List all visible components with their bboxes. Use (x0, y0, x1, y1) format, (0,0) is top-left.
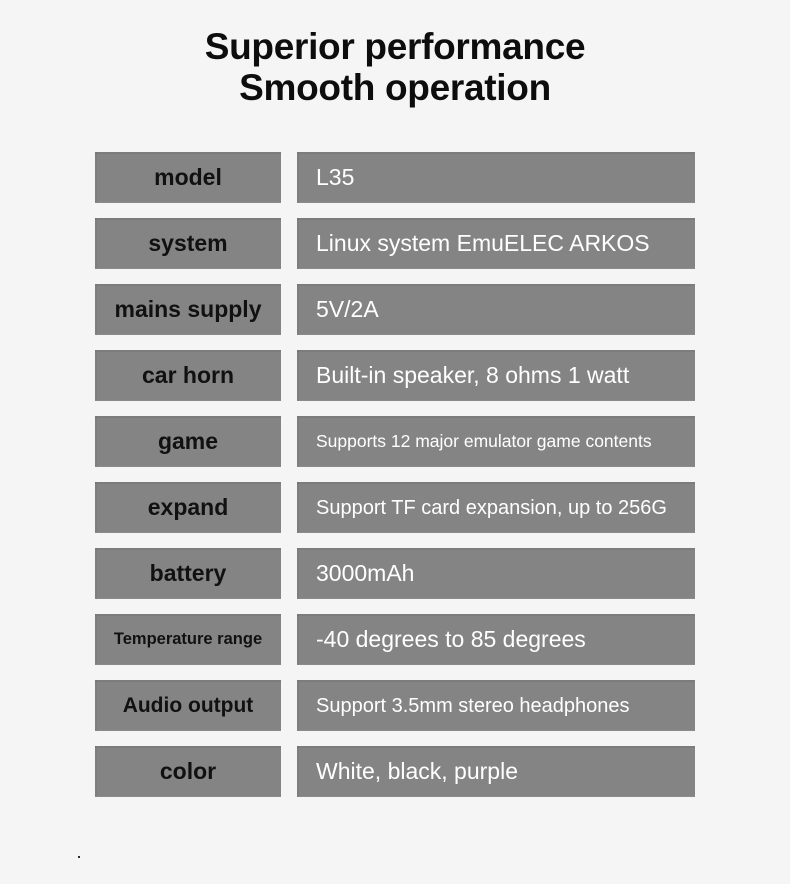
spec-value-cell: 3000mAh (297, 548, 695, 599)
spec-row: modelL35 (95, 152, 695, 203)
page-headline: Superior performance Smooth operation (0, 26, 790, 109)
spec-label-text: expand (148, 496, 229, 519)
spec-row: car hornBuilt-in speaker, 8 ohms 1 watt (95, 350, 695, 401)
spec-label-text: car horn (142, 364, 234, 387)
spec-value-text: 5V/2A (316, 298, 379, 321)
spec-value-cell: Support TF card expansion, up to 256G (297, 482, 695, 533)
spec-value-text: Linux system EmuELEC ARKOS (316, 232, 650, 255)
spec-value-cell: White, black, purple (297, 746, 695, 797)
spec-value-text: -40 degrees to 85 degrees (316, 628, 586, 651)
spec-label-cell: game (95, 416, 281, 467)
spec-row: expandSupport TF card expansion, up to 2… (95, 482, 695, 533)
spec-label-cell: expand (95, 482, 281, 533)
spec-row: Temperature range-40 degrees to 85 degre… (95, 614, 695, 665)
spec-value-text: Built-in speaker, 8 ohms 1 watt (316, 364, 629, 387)
spec-value-text: White, black, purple (316, 760, 518, 783)
spec-label-text: Temperature range (114, 631, 262, 648)
specification-table: modelL35systemLinux system EmuELEC ARKOS… (95, 152, 695, 797)
spec-value-cell: Support 3.5mm stereo headphones (297, 680, 695, 731)
spec-row: Audio outputSupport 3.5mm stereo headpho… (95, 680, 695, 731)
spec-row: mains supply5V/2A (95, 284, 695, 335)
headline-line-1: Superior performance (0, 26, 790, 67)
spec-value-text: Support 3.5mm stereo headphones (316, 696, 630, 716)
spec-label-text: system (148, 232, 227, 255)
spec-label-text: game (158, 430, 218, 453)
spec-row: systemLinux system EmuELEC ARKOS (95, 218, 695, 269)
spec-value-text: Support TF card expansion, up to 256G (316, 498, 667, 518)
spec-label-text: battery (150, 562, 227, 585)
spec-label-text: Audio output (123, 695, 254, 716)
spec-label-cell: battery (95, 548, 281, 599)
spec-label-cell: color (95, 746, 281, 797)
spec-label-text: color (160, 760, 216, 783)
spec-value-text: Supports 12 major emulator game contents (316, 433, 652, 451)
spec-row: battery3000mAh (95, 548, 695, 599)
spec-label-cell: Audio output (95, 680, 281, 731)
spec-label-cell: mains supply (95, 284, 281, 335)
headline-line-2: Smooth operation (0, 67, 790, 108)
spec-label-cell: Temperature range (95, 614, 281, 665)
spec-label-cell: system (95, 218, 281, 269)
spec-value-cell: Supports 12 major emulator game contents (297, 416, 695, 467)
spec-label-text: model (154, 166, 222, 189)
spec-value-text: L35 (316, 166, 354, 189)
spec-label-cell: car horn (95, 350, 281, 401)
spec-value-cell: Linux system EmuELEC ARKOS (297, 218, 695, 269)
stray-pixel-artifact (78, 856, 80, 858)
spec-label-cell: model (95, 152, 281, 203)
spec-value-cell: -40 degrees to 85 degrees (297, 614, 695, 665)
spec-value-cell: 5V/2A (297, 284, 695, 335)
spec-value-cell: L35 (297, 152, 695, 203)
spec-row: gameSupports 12 major emulator game cont… (95, 416, 695, 467)
spec-label-text: mains supply (115, 298, 262, 321)
spec-row: colorWhite, black, purple (95, 746, 695, 797)
spec-value-cell: Built-in speaker, 8 ohms 1 watt (297, 350, 695, 401)
spec-value-text: 3000mAh (316, 562, 414, 585)
